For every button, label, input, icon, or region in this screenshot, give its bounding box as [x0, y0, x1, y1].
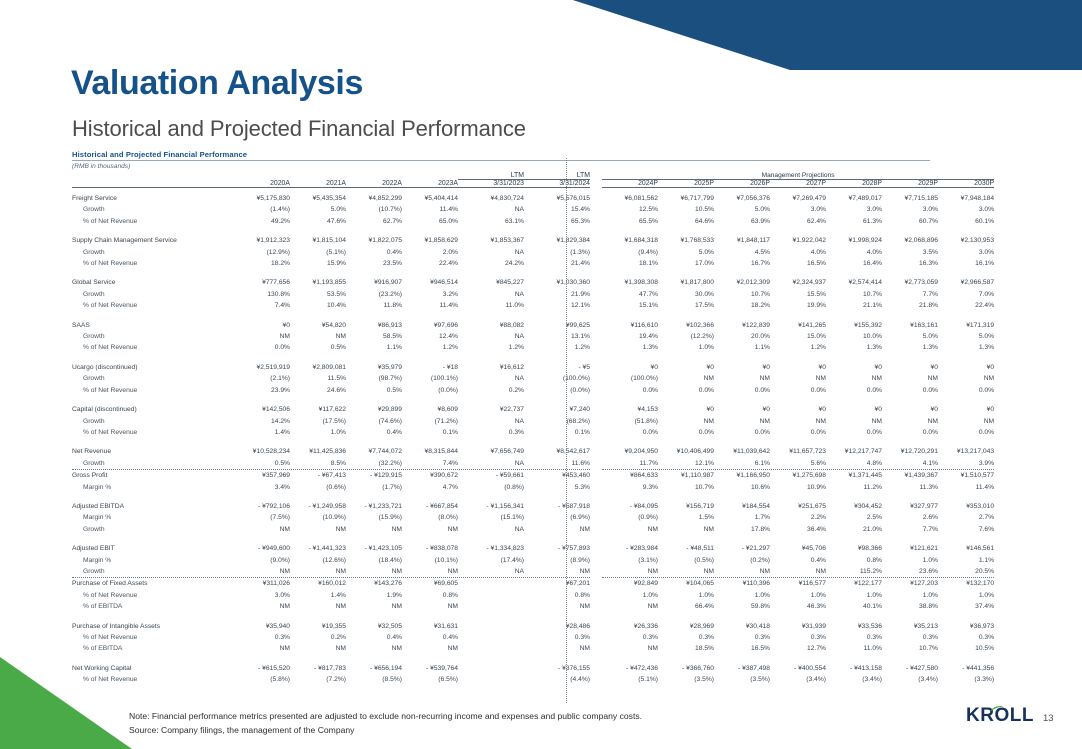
cell-3/31/2023: 0.2%	[458, 385, 524, 396]
cell-2020A: ¥777,656	[234, 277, 290, 288]
cell-3/31/2024: ¥1,030,360	[524, 277, 590, 288]
cell-2025P: ¥102,366	[658, 320, 714, 331]
row-label: Net Working Capital	[72, 663, 234, 674]
cell-2026P: NM	[714, 416, 770, 427]
cell-2022A: 62.7%	[346, 216, 402, 227]
cell-2025P: NM	[658, 566, 714, 577]
cell-2024P: 15.1%	[602, 300, 658, 311]
cell-2021A: 10.4%	[290, 300, 346, 311]
cell-3/31/2024: (1.3%)	[524, 247, 590, 258]
cell-2029P: 4.1%	[882, 458, 938, 469]
cell-2026P: ¥0	[714, 404, 770, 415]
cell-3/31/2024: ¥453,460	[524, 470, 590, 481]
cell-3/31/2024: 21.9%	[524, 289, 590, 300]
management-projections-group-header: Management Projections	[602, 172, 994, 179]
cell-2029P: 16.3%	[882, 258, 938, 269]
financial-table: LTMLTMManagement Projections 2020A2021A2…	[72, 172, 994, 686]
cell-2030P: 10.5%	[938, 643, 994, 654]
cell-2027P: ¥45,706	[770, 543, 826, 554]
cell-2028P: 21.0%	[826, 524, 882, 535]
cell-2023A: ¥8,315,844	[402, 446, 458, 457]
cell-2024P: ¥6,081,562	[602, 193, 658, 204]
cell-2027P: 0.0%	[770, 427, 826, 438]
cell-2024P: ¥864,633	[602, 470, 658, 481]
cell-2028P: ¥0	[826, 404, 882, 415]
cell-2026P: 63.9%	[714, 216, 770, 227]
cell-2025P: 12.1%	[658, 458, 714, 469]
cell-3/31/2024: 11.6%	[524, 458, 590, 469]
column-header-2020A: 2020A	[234, 180, 290, 187]
cell-2028P: 1.0%	[826, 590, 882, 601]
cell-2023A: - ¥838,078	[402, 543, 458, 554]
cell-2023A: 7.4%	[402, 458, 458, 469]
cell-2020A: - ¥615,520	[234, 663, 290, 674]
cell-2020A: ¥1,912,323	[234, 235, 290, 246]
cell-2026P: 10.7%	[714, 289, 770, 300]
cell-2026P: 5.0%	[714, 204, 770, 215]
column-header-top-3/31/2024: LTM	[524, 172, 590, 179]
cell-2025P: ¥1,768,533	[658, 235, 714, 246]
cell-2029P: 0.3%	[882, 632, 938, 643]
cell-2022A: ¥35,979	[346, 362, 402, 373]
cell-2028P: 3.0%	[826, 204, 882, 215]
row-label: Adjusted EBITDA	[72, 501, 234, 512]
cell-2024P: ¥1,398,308	[602, 277, 658, 288]
cell-3/31/2024: - ¥757,893	[524, 543, 590, 554]
cell-2021A: 0.2%	[290, 632, 346, 643]
cell-3/31/2023: NA	[458, 289, 524, 300]
row-label: Growth	[72, 524, 234, 535]
cell-2021A: (5.1%)	[290, 247, 346, 258]
cell-2027P: 4.0%	[770, 247, 826, 258]
cell-2022A: 0.4%	[346, 247, 402, 258]
table-row: % of Net Revenue23.9%24.6%0.5%(0.0%)0.2%…	[72, 385, 994, 396]
cell-2030P: 20.5%	[938, 566, 994, 577]
cell-2020A: - ¥949,600	[234, 543, 290, 554]
cell-3/31/2023: NA	[458, 373, 524, 384]
cell-3/31/2024: - ¥5	[524, 362, 590, 373]
cell-2024P: ¥116,610	[602, 320, 658, 331]
cell-3/31/2023: NA	[458, 416, 524, 427]
table-row: % of Net Revenue1.4%1.0%0.4%0.1%0.3%0.1%…	[72, 427, 994, 438]
cell-2028P: NM	[826, 373, 882, 384]
cell-3/31/2024: - ¥376,155	[524, 663, 590, 674]
cell-2022A: (98.7%)	[346, 373, 402, 384]
table-row: % of Net Revenue7.4%10.4%11.8%11.4%11.0%…	[72, 300, 994, 311]
cell-3/31/2024: ¥5,576,015	[524, 193, 590, 204]
cell-2029P: 3.5%	[882, 247, 938, 258]
cell-2028P: 115.2%	[826, 566, 882, 577]
cell-2022A: ¥1,822,075	[346, 235, 402, 246]
cell-2024P: NM	[602, 601, 658, 612]
column-header-2030P: 2030P	[938, 180, 994, 187]
cell-2022A: ¥4,852,299	[346, 193, 402, 204]
column-header-2021A: 2021A	[290, 180, 346, 187]
cell-2023A: ¥69,605	[402, 578, 458, 589]
cell-2028P: 21.1%	[826, 300, 882, 311]
cell-2023A: 3.2%	[402, 289, 458, 300]
cell-2021A: - ¥1,441,323	[290, 543, 346, 554]
column-header-2024P: 2024P	[602, 180, 658, 187]
cell-2028P: 0.8%	[826, 555, 882, 566]
table-row: Growth(2.1%)11.5%(98.7%)(100.1%)NA(100.0…	[72, 373, 994, 384]
row-label: Purchase of Fixed Assets	[72, 578, 234, 589]
row-label: Growth	[72, 247, 234, 258]
cell-2026P: ¥1,166,950	[714, 470, 770, 481]
cell-2023A: (10.1%)	[402, 555, 458, 566]
cell-2024P: ¥9,204,950	[602, 446, 658, 457]
cell-3/31/2024: ¥7,240	[524, 404, 590, 415]
cell-3/31/2023: NA	[458, 204, 524, 215]
source-line: Source: Company filings, the management …	[129, 723, 642, 737]
cell-2024P: 11.7%	[602, 458, 658, 469]
cell-2027P: 16.5%	[770, 258, 826, 269]
cell-2028P: - ¥413,158	[826, 663, 882, 674]
column-header-2026P: 2026P	[714, 180, 770, 187]
cell-3/31/2024: (100.0%)	[524, 373, 590, 384]
row-label: Net Revenue	[72, 446, 234, 457]
cell-3/31/2024: NM	[524, 524, 590, 535]
cell-2020A: 18.2%	[234, 258, 290, 269]
cell-2029P: 5.0%	[882, 331, 938, 342]
cell-3/31/2024: ¥8,542,617	[524, 446, 590, 457]
cell-2028P: 11.0%	[826, 643, 882, 654]
cell-2021A: 15.9%	[290, 258, 346, 269]
cell-2026P: NM	[714, 373, 770, 384]
top-right-blue-wedge	[0, 0, 1082, 70]
cell-3/31/2023: NA	[458, 247, 524, 258]
cell-2023A: 4.7%	[402, 482, 458, 493]
cell-2021A: 24.6%	[290, 385, 346, 396]
cell-2029P: 60.7%	[882, 216, 938, 227]
cell-2020A: 130.8%	[234, 289, 290, 300]
cell-2025P: 1.5%	[658, 512, 714, 523]
row-label: Growth	[72, 566, 234, 577]
cell-2026P: 59.8%	[714, 601, 770, 612]
cell-2020A: 3.4%	[234, 482, 290, 493]
cell-2030P: ¥171,319	[938, 320, 994, 331]
cell-2030P: ¥2,966,587	[938, 277, 994, 288]
cell-2021A: (10.9%)	[290, 512, 346, 523]
cell-2022A: (18.4%)	[346, 555, 402, 566]
cell-2023A: ¥1,858,629	[402, 235, 458, 246]
cell-2030P: ¥132,170	[938, 578, 994, 589]
cell-2022A: (8.5%)	[346, 674, 402, 685]
cell-2026P: 16.7%	[714, 258, 770, 269]
column-header-2027P: 2027P	[770, 180, 826, 187]
cell-2020A: ¥311,026	[234, 578, 290, 589]
cell-2023A: 0.1%	[402, 427, 458, 438]
cell-2030P: ¥36,973	[938, 621, 994, 632]
cell-2029P: 38.8%	[882, 601, 938, 612]
cell-3/31/2024: NM	[524, 566, 590, 577]
cell-2022A: ¥143,276	[346, 578, 402, 589]
cell-2027P: 0.0%	[770, 385, 826, 396]
row-spacer	[72, 396, 994, 404]
cell-2029P: 10.7%	[882, 643, 938, 654]
financial-table-block: Historical and Projected Financial Perfo…	[72, 150, 930, 686]
table-row: Margin %3.4%(0.6%)(1.7%)4.7%(0.8%)5.3%9.…	[72, 482, 994, 493]
cell-2029P: ¥0	[882, 404, 938, 415]
cell-2025P: 10.5%	[658, 204, 714, 215]
row-label: Margin %	[72, 512, 234, 523]
cell-2025P: ¥156,719	[658, 501, 714, 512]
row-label: Growth	[72, 331, 234, 342]
table-row: % of EBITDANMNMNMNMNMNM18.5%16.5%12.7%11…	[72, 643, 994, 654]
cell-2024P: ¥0	[602, 362, 658, 373]
table-row: Adjusted EBIT- ¥949,600- ¥1,441,323- ¥1,…	[72, 543, 994, 554]
cell-2030P: 16.1%	[938, 258, 994, 269]
cell-2030P: 2.7%	[938, 512, 994, 523]
table-row: Growth(12.9%)(5.1%)0.4%2.0%NA(1.3%)(9.4%…	[72, 247, 994, 258]
cell-2027P: ¥0	[770, 362, 826, 373]
cell-2024P: ¥4,153	[602, 404, 658, 415]
table-row: Purchase of Intangible Assets¥35,940¥19,…	[72, 621, 994, 632]
cell-2020A: 1.4%	[234, 427, 290, 438]
cell-2029P: ¥327,977	[882, 501, 938, 512]
cell-2024P: - ¥472,436	[602, 663, 658, 674]
footnotes: Note: Financial performance metrics pres…	[129, 709, 642, 737]
column-header-2025P: 2025P	[658, 180, 714, 187]
cell-2022A: ¥916,907	[346, 277, 402, 288]
cell-2030P: 0.0%	[938, 385, 994, 396]
cell-2020A: NM	[234, 643, 290, 654]
cell-2026P: ¥11,039,642	[714, 446, 770, 457]
cell-3/31/2024: NM	[524, 601, 590, 612]
cell-2029P: 0.0%	[882, 385, 938, 396]
cell-2029P: 11.3%	[882, 482, 938, 493]
cell-2024P: (5.1%)	[602, 674, 658, 685]
column-header-2029P: 2029P	[882, 180, 938, 187]
table-row: Freight Service¥5,175,830¥5,435,354¥4,85…	[72, 193, 994, 204]
cell-2028P: 40.1%	[826, 601, 882, 612]
cell-2025P: ¥1,817,800	[658, 277, 714, 288]
cell-2030P: ¥0	[938, 404, 994, 415]
cell-2029P: - ¥427,580	[882, 663, 938, 674]
cell-2026P: ¥110,396	[714, 578, 770, 589]
cell-2029P: NM	[882, 416, 938, 427]
cell-2020A: ¥10,528,234	[234, 446, 290, 457]
cell-2021A: 47.6%	[290, 216, 346, 227]
cell-3/31/2023	[458, 674, 524, 685]
cell-3/31/2023: ¥16,612	[458, 362, 524, 373]
cell-2027P: ¥7,269,479	[770, 193, 826, 204]
cell-2028P: 16.4%	[826, 258, 882, 269]
cell-2021A: (17.5%)	[290, 416, 346, 427]
cell-2023A: ¥97,696	[402, 320, 458, 331]
cell-2020A: (7.5%)	[234, 512, 290, 523]
cell-2026P: ¥1,848,117	[714, 235, 770, 246]
row-label: % of Net Revenue	[72, 632, 234, 643]
cell-2024P: NM	[602, 643, 658, 654]
header-top-row: LTMLTMManagement Projections	[72, 172, 994, 179]
cell-3/31/2023: (17.4%)	[458, 555, 524, 566]
cell-2029P: 23.6%	[882, 566, 938, 577]
cell-3/31/2024: 65.3%	[524, 216, 590, 227]
cell-2028P: 0.0%	[826, 427, 882, 438]
cell-3/31/2023: - ¥59,661	[458, 470, 524, 481]
cell-2022A: 1.1%	[346, 342, 402, 353]
cell-2030P: 3.0%	[938, 247, 994, 258]
table-row: GrowthNMNM58.5%12.4%NA13.1%19.4%(12.2%)2…	[72, 331, 994, 342]
cell-3/31/2023: - ¥1,156,341	[458, 501, 524, 512]
cell-3/31/2024: ¥1,829,384	[524, 235, 590, 246]
cell-2020A: ¥0	[234, 320, 290, 331]
cell-2020A: NM	[234, 601, 290, 612]
cell-2022A: 58.5%	[346, 331, 402, 342]
cell-2025P: 17.0%	[658, 258, 714, 269]
cell-2028P: ¥2,574,414	[826, 277, 882, 288]
cell-2027P: 15.0%	[770, 331, 826, 342]
cell-2028P: 10.0%	[826, 331, 882, 342]
cell-2020A: ¥2,519,919	[234, 362, 290, 373]
cell-2025P: NM	[658, 524, 714, 535]
cell-2022A: ¥29,899	[346, 404, 402, 415]
cell-3/31/2024: 0.1%	[524, 427, 590, 438]
cell-2023A: 1.2%	[402, 342, 458, 353]
cell-2027P: ¥31,939	[770, 621, 826, 632]
cell-2023A: 12.4%	[402, 331, 458, 342]
cell-3/31/2023	[458, 590, 524, 601]
row-label: % of Net Revenue	[72, 590, 234, 601]
cell-2022A: - ¥1,233,721	[346, 501, 402, 512]
cell-2026P: 0.3%	[714, 632, 770, 643]
cell-2022A: (23.2%)	[346, 289, 402, 300]
table-row: % of Net Revenue18.2%15.9%23.5%22.4%24.2…	[72, 258, 994, 269]
cell-2021A: ¥5,435,354	[290, 193, 346, 204]
cell-2020A: 3.0%	[234, 590, 290, 601]
cell-2020A: ¥142,506	[234, 404, 290, 415]
cell-2023A: 11.4%	[402, 300, 458, 311]
cell-2030P: 60.1%	[938, 216, 994, 227]
cell-2027P: ¥116,577	[770, 578, 826, 589]
cell-3/31/2023	[458, 643, 524, 654]
table-row: Adjusted EBITDA- ¥792,106- ¥1,249,958- ¥…	[72, 501, 994, 512]
cell-2027P: 1.2%	[770, 342, 826, 353]
cell-2024P: 18.1%	[602, 258, 658, 269]
cell-3/31/2024: (8.9%)	[524, 555, 590, 566]
cell-2027P: 3.0%	[770, 204, 826, 215]
table-units: (RMB in thousands)	[72, 163, 930, 170]
cell-2021A: 0.5%	[290, 342, 346, 353]
cell-2026P: 20.0%	[714, 331, 770, 342]
cell-2026P: 1.7%	[714, 512, 770, 523]
cell-2030P: ¥0	[938, 362, 994, 373]
cell-3/31/2023: 24.2%	[458, 258, 524, 269]
cell-3/31/2024: 13.1%	[524, 331, 590, 342]
cell-3/31/2024: (6.9%)	[524, 512, 590, 523]
table-row: % of EBITDANMNMNMNMNMNM66.4%59.8%46.3%40…	[72, 601, 994, 612]
cell-2029P: ¥7,715,185	[882, 193, 938, 204]
row-label: % of Net Revenue	[72, 258, 234, 269]
table-head: LTMLTMManagement Projections 2020A2021A2…	[72, 172, 994, 193]
cell-2021A: 11.5%	[290, 373, 346, 384]
cell-2021A: NM	[290, 331, 346, 342]
cell-2023A: (0.0%)	[402, 385, 458, 396]
cell-3/31/2023: 11.0%	[458, 300, 524, 311]
cell-2021A: ¥19,355	[290, 621, 346, 632]
cell-2027P: 2.2%	[770, 512, 826, 523]
cell-2022A: NM	[346, 643, 402, 654]
cell-2024P: 0.0%	[602, 427, 658, 438]
cell-2022A: ¥32,505	[346, 621, 402, 632]
cell-2028P: ¥33,536	[826, 621, 882, 632]
cell-3/31/2024: 1.2%	[524, 342, 590, 353]
cell-2020A: 49.2%	[234, 216, 290, 227]
cell-2024P: (3.1%)	[602, 555, 658, 566]
row-spacer	[72, 312, 994, 320]
cell-2020A: 0.5%	[234, 458, 290, 469]
cell-2021A: ¥1,815,104	[290, 235, 346, 246]
cell-2027P: NM	[770, 416, 826, 427]
cell-2028P: ¥155,392	[826, 320, 882, 331]
cell-2020A: ¥35,940	[234, 621, 290, 632]
cell-2029P: 0.0%	[882, 427, 938, 438]
cell-2022A: NM	[346, 566, 402, 577]
cell-2023A: (100.1%)	[402, 373, 458, 384]
cell-2020A: 14.2%	[234, 416, 290, 427]
cell-3/31/2023: NA	[458, 331, 524, 342]
cell-2024P: NM	[602, 566, 658, 577]
cell-2030P: 0.3%	[938, 632, 994, 643]
column-header-top-3/31/2023: LTM	[458, 172, 524, 179]
cell-3/31/2023	[458, 621, 524, 632]
cell-2025P: NM	[658, 373, 714, 384]
cell-2028P: 4.8%	[826, 458, 882, 469]
row-label: Growth	[72, 458, 234, 469]
cell-2020A: (12.9%)	[234, 247, 290, 258]
cell-2026P: 0.0%	[714, 427, 770, 438]
cell-2030P: ¥353,010	[938, 501, 994, 512]
table-row: Capital (discontinued)¥142,506¥117,622¥2…	[72, 404, 994, 415]
cell-2025P: 1.0%	[658, 342, 714, 353]
cell-3/31/2023: ¥22,737	[458, 404, 524, 415]
cell-3/31/2024: NM	[524, 643, 590, 654]
table-row: Growth14.2%(17.5%)(74.6%)(71.2%)NA(68.2%…	[72, 416, 994, 427]
kroll-logo: KROLL	[966, 706, 1034, 725]
cell-2028P: 10.7%	[826, 289, 882, 300]
cell-2023A: ¥8,609	[402, 404, 458, 415]
cell-2021A: ¥2,809,081	[290, 362, 346, 373]
cell-2023A: NM	[402, 643, 458, 654]
cell-2030P: NM	[938, 373, 994, 384]
cell-2022A: 23.5%	[346, 258, 402, 269]
cell-2029P: NM	[882, 373, 938, 384]
cell-2028P: 4.0%	[826, 247, 882, 258]
cell-2021A: 5.0%	[290, 204, 346, 215]
row-spacer	[72, 438, 994, 446]
cell-2027P: 19.9%	[770, 300, 826, 311]
cell-2030P: (3.3%)	[938, 674, 994, 685]
cell-2021A: NM	[290, 524, 346, 535]
cell-2022A: - ¥656,194	[346, 663, 402, 674]
cell-3/31/2023: ¥845,227	[458, 277, 524, 288]
cell-2024P: ¥26,336	[602, 621, 658, 632]
cell-2023A: - ¥18	[402, 362, 458, 373]
cell-2021A: 53.5%	[290, 289, 346, 300]
table-row: GrowthNMNMNMNMNANMNMNM17.8%36.4%21.0%7.7…	[72, 524, 994, 535]
cell-2023A: ¥31,631	[402, 621, 458, 632]
cell-2022A: 0.5%	[346, 385, 402, 396]
cell-2029P: 2.6%	[882, 512, 938, 523]
cell-2022A: - ¥129,915	[346, 470, 402, 481]
row-spacer	[72, 354, 994, 362]
cell-2023A: ¥946,514	[402, 277, 458, 288]
cell-2028P: ¥98,366	[826, 543, 882, 554]
cell-2024P: - ¥84,095	[602, 501, 658, 512]
cell-2021A: - ¥67,413	[290, 470, 346, 481]
row-label: Gross Profit	[72, 470, 234, 481]
